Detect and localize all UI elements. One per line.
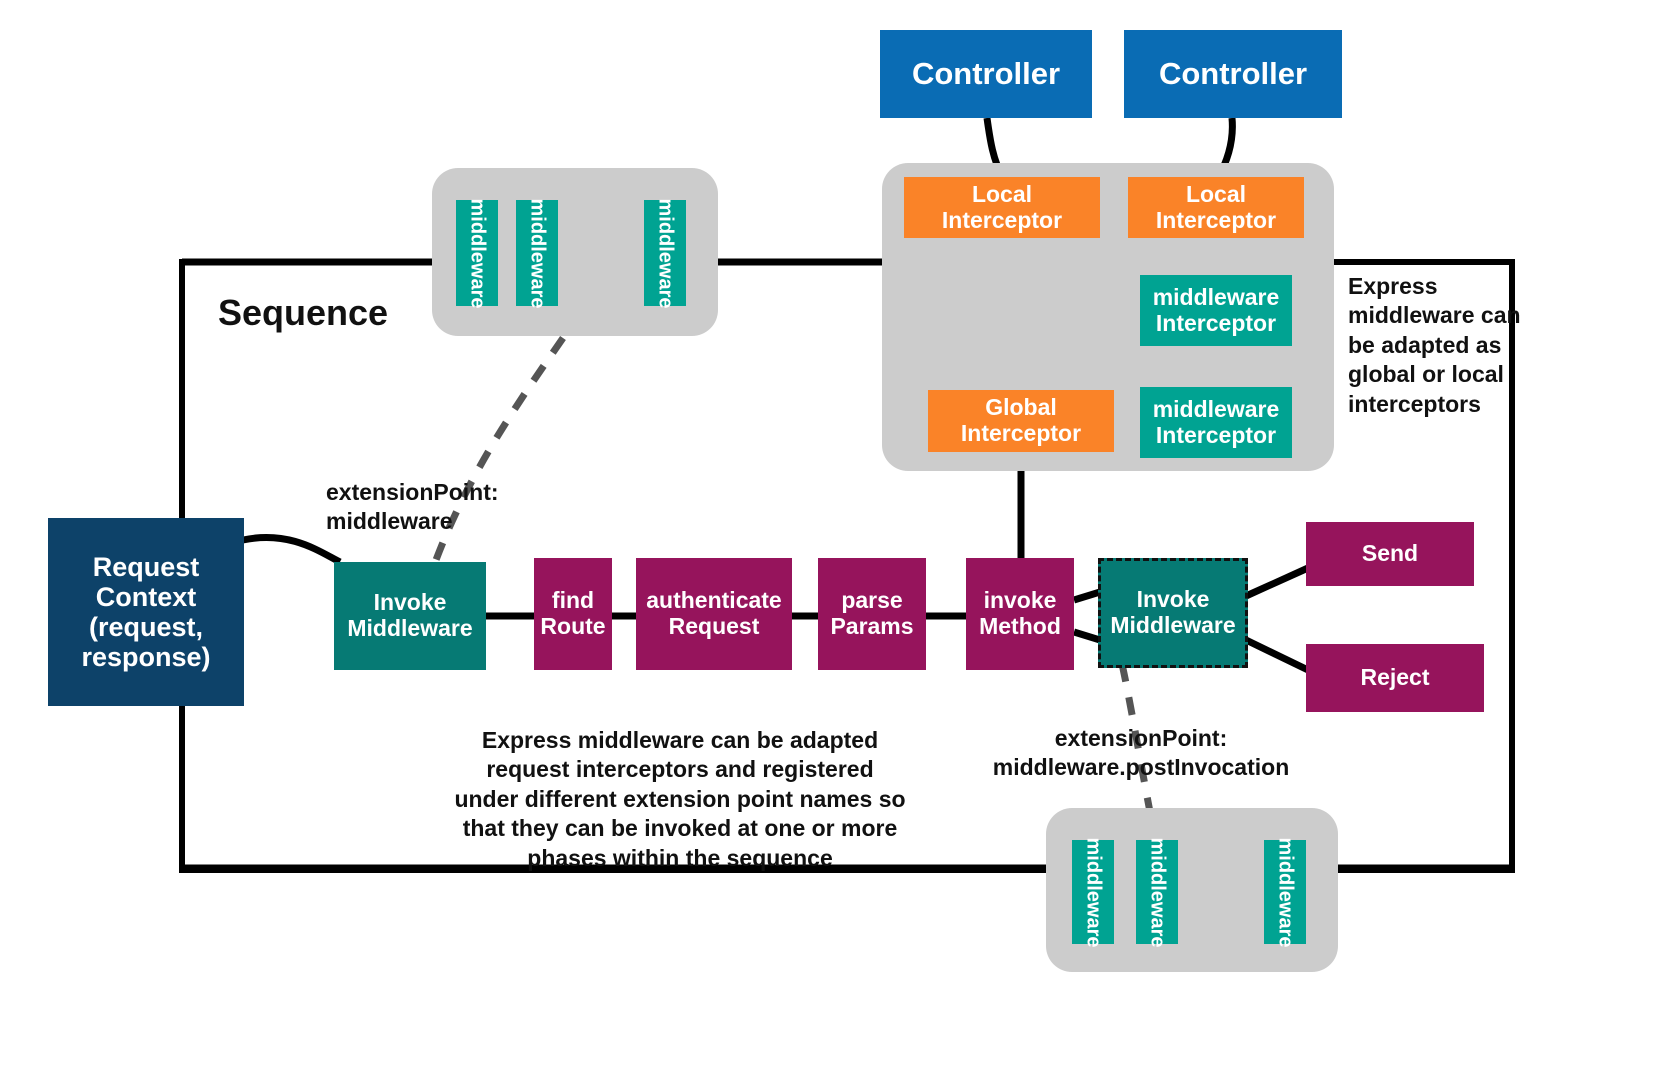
note-right-line-3: be adapted as xyxy=(1348,331,1538,360)
step-find-route[interactable]: find Route xyxy=(534,558,612,670)
wire-step5-step6-upper xyxy=(1074,592,1100,600)
request-context[interactable]: Request Context (request, response) xyxy=(48,518,244,706)
middleware-bar-label: middleware xyxy=(1146,837,1169,947)
middleware-bar-label: middleware xyxy=(526,198,549,308)
middleware-bar-label: middleware xyxy=(654,198,677,308)
note-bottom-line-1: Express middleware can be adapted xyxy=(436,726,924,755)
middleware-interceptor-2[interactable]: middleware Interceptor xyxy=(1140,387,1292,458)
middleware-bar: middleware xyxy=(644,200,686,306)
controller-1-label: Controller xyxy=(912,57,1060,92)
global-interceptor-line1: Global xyxy=(985,395,1057,421)
global-interceptor[interactable]: Global Interceptor xyxy=(928,390,1114,452)
local-interceptor-1-line1: Local xyxy=(972,182,1032,208)
step-invoke-method-line2: Method xyxy=(979,614,1061,640)
local-interceptor-2-line1: Local xyxy=(1186,182,1246,208)
middleware-group-bottom: middleware middleware middleware xyxy=(1046,808,1338,972)
note-right-line-2: middleware can xyxy=(1348,301,1538,330)
extension-point-top-label: extensionPoint: middleware xyxy=(326,478,566,536)
wire-requestcontext-to-invoke-middleware xyxy=(243,537,340,562)
step-authenticate-request-line2: Request xyxy=(669,614,760,640)
step-invoke-middleware-pre-line2: Middleware xyxy=(347,616,472,642)
wire-invoke-middleware-to-reject xyxy=(1246,640,1308,670)
middleware-bar: middleware xyxy=(1072,840,1114,944)
terminal-send[interactable]: Send xyxy=(1306,522,1474,586)
middleware-interceptor-1[interactable]: middleware Interceptor xyxy=(1140,275,1292,346)
middleware-interceptor-1-line1: middleware xyxy=(1153,285,1280,311)
request-context-line-1: Request xyxy=(93,552,200,582)
controller-1[interactable]: Controller xyxy=(880,30,1092,118)
note-bottom-line-2: request interceptors and registered xyxy=(436,755,924,784)
middleware-interceptor-2-line1: middleware xyxy=(1153,397,1280,423)
note-right-line-4: global or local xyxy=(1348,360,1538,389)
wire-invoke-middleware-to-send xyxy=(1246,568,1308,596)
middleware-bar: middleware xyxy=(1264,840,1306,944)
step-invoke-method[interactable]: invoke Method xyxy=(966,558,1074,670)
wire-step5-step6-lower xyxy=(1074,632,1100,640)
step-find-route-line2: Route xyxy=(540,614,605,640)
step-invoke-middleware-post-line2: Middleware xyxy=(1110,613,1235,639)
step-invoke-middleware-pre[interactable]: Invoke Middleware xyxy=(334,562,486,670)
step-authenticate-request[interactable]: authenticate Request xyxy=(636,558,792,670)
local-interceptor-2[interactable]: Local Interceptor xyxy=(1128,177,1304,238)
middleware-bar-label: middleware xyxy=(466,198,489,308)
step-invoke-middleware-pre-line1: Invoke xyxy=(374,590,447,616)
note-bottom-line-3: under different extension point names so xyxy=(436,785,924,814)
middleware-bar: middleware xyxy=(1136,840,1178,944)
step-parse-params[interactable]: parse Params xyxy=(818,558,926,670)
note-bottom: Express middleware can be adapted reques… xyxy=(436,726,924,873)
middleware-bar: middleware xyxy=(456,200,498,306)
note-right-line-1: Express xyxy=(1348,272,1538,301)
extension-point-bottom-line1: extensionPoint: xyxy=(986,724,1296,753)
note-right-line-5: interceptors xyxy=(1348,390,1538,419)
step-invoke-middleware-post-line1: Invoke xyxy=(1137,587,1210,613)
local-interceptor-1-line2: Interceptor xyxy=(942,208,1062,234)
request-context-line-2: Context xyxy=(96,582,197,612)
step-parse-params-line2: Params xyxy=(830,614,913,640)
terminal-reject-label: Reject xyxy=(1360,665,1429,691)
extension-point-bottom-label: extensionPoint: middleware.postInvocatio… xyxy=(986,724,1296,782)
middleware-interceptor-1-line2: Interceptor xyxy=(1156,311,1276,337)
step-invoke-middleware-post[interactable]: Invoke Middleware xyxy=(1098,558,1248,668)
middleware-bar-label: middleware xyxy=(1082,837,1105,947)
step-find-route-line1: find xyxy=(552,588,594,614)
middleware-interceptor-2-line2: Interceptor xyxy=(1156,423,1276,449)
step-invoke-method-line1: invoke xyxy=(984,588,1057,614)
extension-point-top-line1: extensionPoint: xyxy=(326,478,566,507)
request-context-line-4: response) xyxy=(81,642,210,672)
note-bottom-line-4: that they can be invoked at one or more xyxy=(436,814,924,843)
terminal-send-label: Send xyxy=(1362,541,1418,567)
sequence-title: Sequence xyxy=(218,292,388,334)
note-right: Express middleware can be adapted as glo… xyxy=(1348,272,1538,419)
middleware-group-top: middleware middleware middleware xyxy=(432,168,718,336)
middleware-bar: middleware xyxy=(516,200,558,306)
controller-2-label: Controller xyxy=(1159,57,1307,92)
step-parse-params-line1: parse xyxy=(841,588,902,614)
extension-point-bottom-line2: middleware.postInvocation xyxy=(986,753,1296,782)
middleware-bar-label: middleware xyxy=(1274,837,1297,947)
controller-2[interactable]: Controller xyxy=(1124,30,1342,118)
terminal-reject[interactable]: Reject xyxy=(1306,644,1484,712)
global-interceptor-line2: Interceptor xyxy=(961,421,1081,447)
step-authenticate-request-line1: authenticate xyxy=(646,588,781,614)
note-bottom-line-5: phases within the sequence xyxy=(436,844,924,873)
local-interceptor-2-line2: Interceptor xyxy=(1156,208,1276,234)
diagram-canvas: middleware middleware middleware Control… xyxy=(0,0,1658,1070)
request-context-line-3: (request, xyxy=(89,612,203,642)
extension-point-top-line2: middleware xyxy=(326,507,566,536)
local-interceptor-1[interactable]: Local Interceptor xyxy=(904,177,1100,238)
